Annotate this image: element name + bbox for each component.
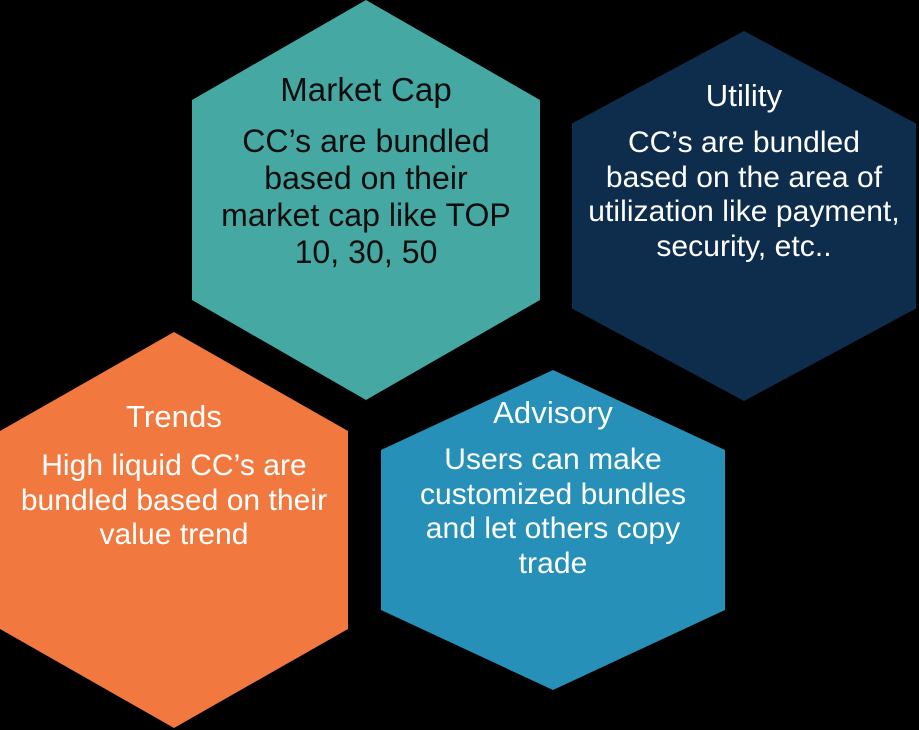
- hexagon-utility-title: Utility: [572, 31, 916, 114]
- hexagon-market-cap-body: CC’s are bundled based on their market c…: [192, 109, 540, 271]
- hexagon-trends[interactable]: Trends High liquid CC’s are bundled base…: [0, 332, 348, 728]
- hexagon-diagram-canvas: Market Cap CC’s are bundled based on the…: [0, 0, 919, 730]
- hexagon-trends-body: High liquid CC’s are bundled based on th…: [0, 435, 348, 553]
- hexagon-advisory-body: Users can make customized bundles and le…: [381, 431, 725, 582]
- hexagon-market-cap-title: Market Cap: [192, 0, 540, 109]
- hexagon-utility[interactable]: Utility CC’s are bundled based on the ar…: [572, 31, 916, 401]
- hexagon-utility-body: CC’s are bundled based on the area of ut…: [572, 114, 916, 265]
- hexagon-advisory-title: Advisory: [381, 370, 725, 431]
- hexagon-market-cap[interactable]: Market Cap CC’s are bundled based on the…: [192, 0, 540, 400]
- hexagon-advisory[interactable]: Advisory Users can make customized bundl…: [381, 370, 725, 690]
